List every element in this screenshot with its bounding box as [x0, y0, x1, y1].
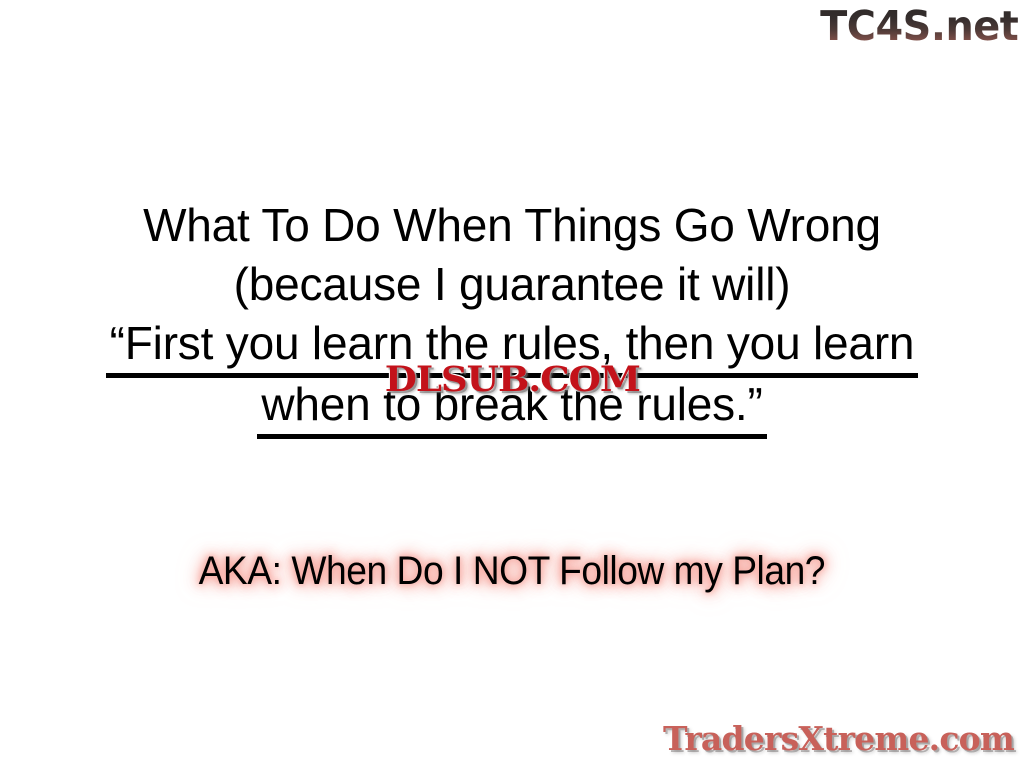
quote-line-2-text: when to break the rules.”	[261, 375, 762, 436]
quote-line-1: “First you learn the rules, then you lea…	[0, 314, 1024, 375]
tradersxtreme-logo: TradersXtreme.com	[663, 719, 1014, 759]
headline-line-2: (because I guarantee it will)	[0, 255, 1024, 314]
tc4s-logo: TC4S.net	[820, 2, 1018, 50]
quote-line-1-text: “First you learn the rules, then you lea…	[110, 314, 915, 375]
slide-canvas: TC4S.net What To Do When Things Go Wrong…	[0, 0, 1024, 768]
quote-line-2: when to break the rules.”	[0, 375, 1024, 436]
subtitle-row: AKA: When Do I NOT Follow my Plan?	[0, 546, 1024, 596]
slide-text-block: What To Do When Things Go Wrong (because…	[0, 196, 1024, 436]
headline-line-1: What To Do When Things Go Wrong	[0, 196, 1024, 255]
subtitle-text: AKA: When Do I NOT Follow my Plan?	[199, 546, 825, 596]
